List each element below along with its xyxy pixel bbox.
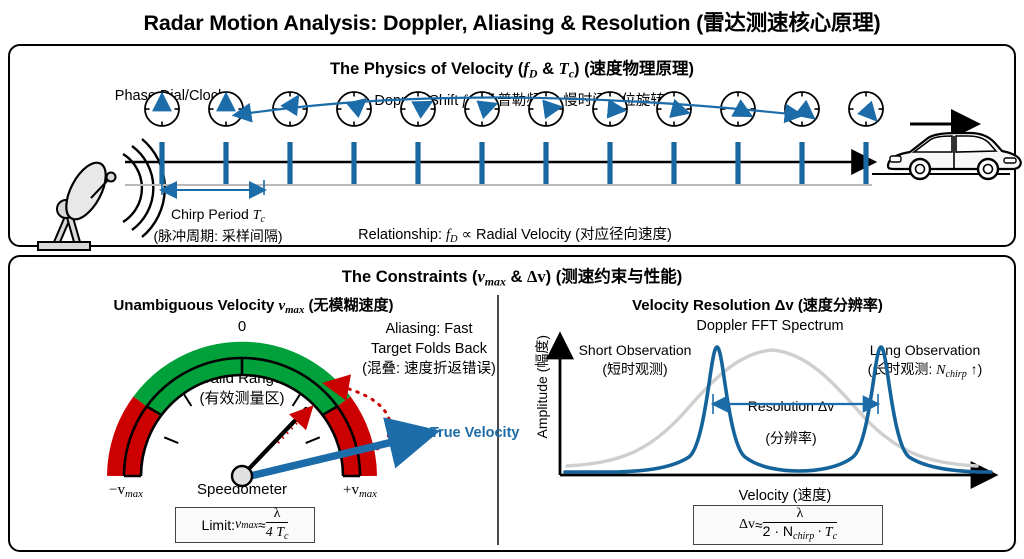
phase-clock-icon (337, 92, 371, 126)
chirp-pulse (543, 142, 548, 184)
chirp-pulse (415, 142, 420, 184)
phase-clock-icon (657, 92, 691, 126)
page-title-en: Radar Motion Analysis: Doppler, Aliasing… (144, 11, 691, 35)
phase-clock-icon (401, 92, 435, 126)
gauge-hub (232, 466, 252, 486)
gauge-arc-red-left (124, 407, 147, 476)
phase-clock-icon (785, 92, 819, 126)
car-icon (888, 133, 1021, 179)
radar-dish-icon (38, 139, 165, 250)
chirp-pulse (607, 142, 612, 184)
needle-foldback-arrow (278, 409, 310, 443)
phase-clock-icon (145, 92, 179, 126)
chirp-pulse (287, 142, 292, 184)
physics-graphics (10, 46, 1018, 249)
speedometer-gauge (10, 257, 497, 554)
short-observation-curve (567, 350, 977, 466)
diagram-root: @BenChuat Radar Motion Analysis: Doppler… (0, 0, 1024, 559)
chirp-pulse (735, 142, 740, 184)
page-title-zh: (雷达测速核心原理) (696, 11, 880, 35)
panel-constraints: The Constraints (vmax & Δv) (测速约束与性能) Un… (8, 255, 1016, 552)
phase-clock-icon (209, 92, 243, 126)
chirp-pulse (863, 142, 868, 184)
chirp-pulse (479, 142, 484, 184)
chirp-pulse (671, 142, 676, 184)
doppler-shift-arc-arrow (236, 98, 800, 116)
doppler-fft-chart (497, 257, 1018, 554)
phase-clock-hand (610, 109, 623, 110)
phase-clock-icon (593, 92, 627, 126)
gauge-arc-red-right (337, 407, 360, 476)
page-title: Radar Motion Analysis: Doppler, Aliasing… (0, 6, 1024, 37)
chirp-pulse (351, 142, 356, 184)
phase-clock-icon (849, 92, 883, 126)
chirp-pulse (223, 142, 228, 184)
chirp-pulse (159, 142, 164, 184)
chirp-pulse (799, 142, 804, 184)
panel-physics-of-velocity: The Physics of Velocity (fD & Tc) (速度物理原… (8, 44, 1016, 247)
